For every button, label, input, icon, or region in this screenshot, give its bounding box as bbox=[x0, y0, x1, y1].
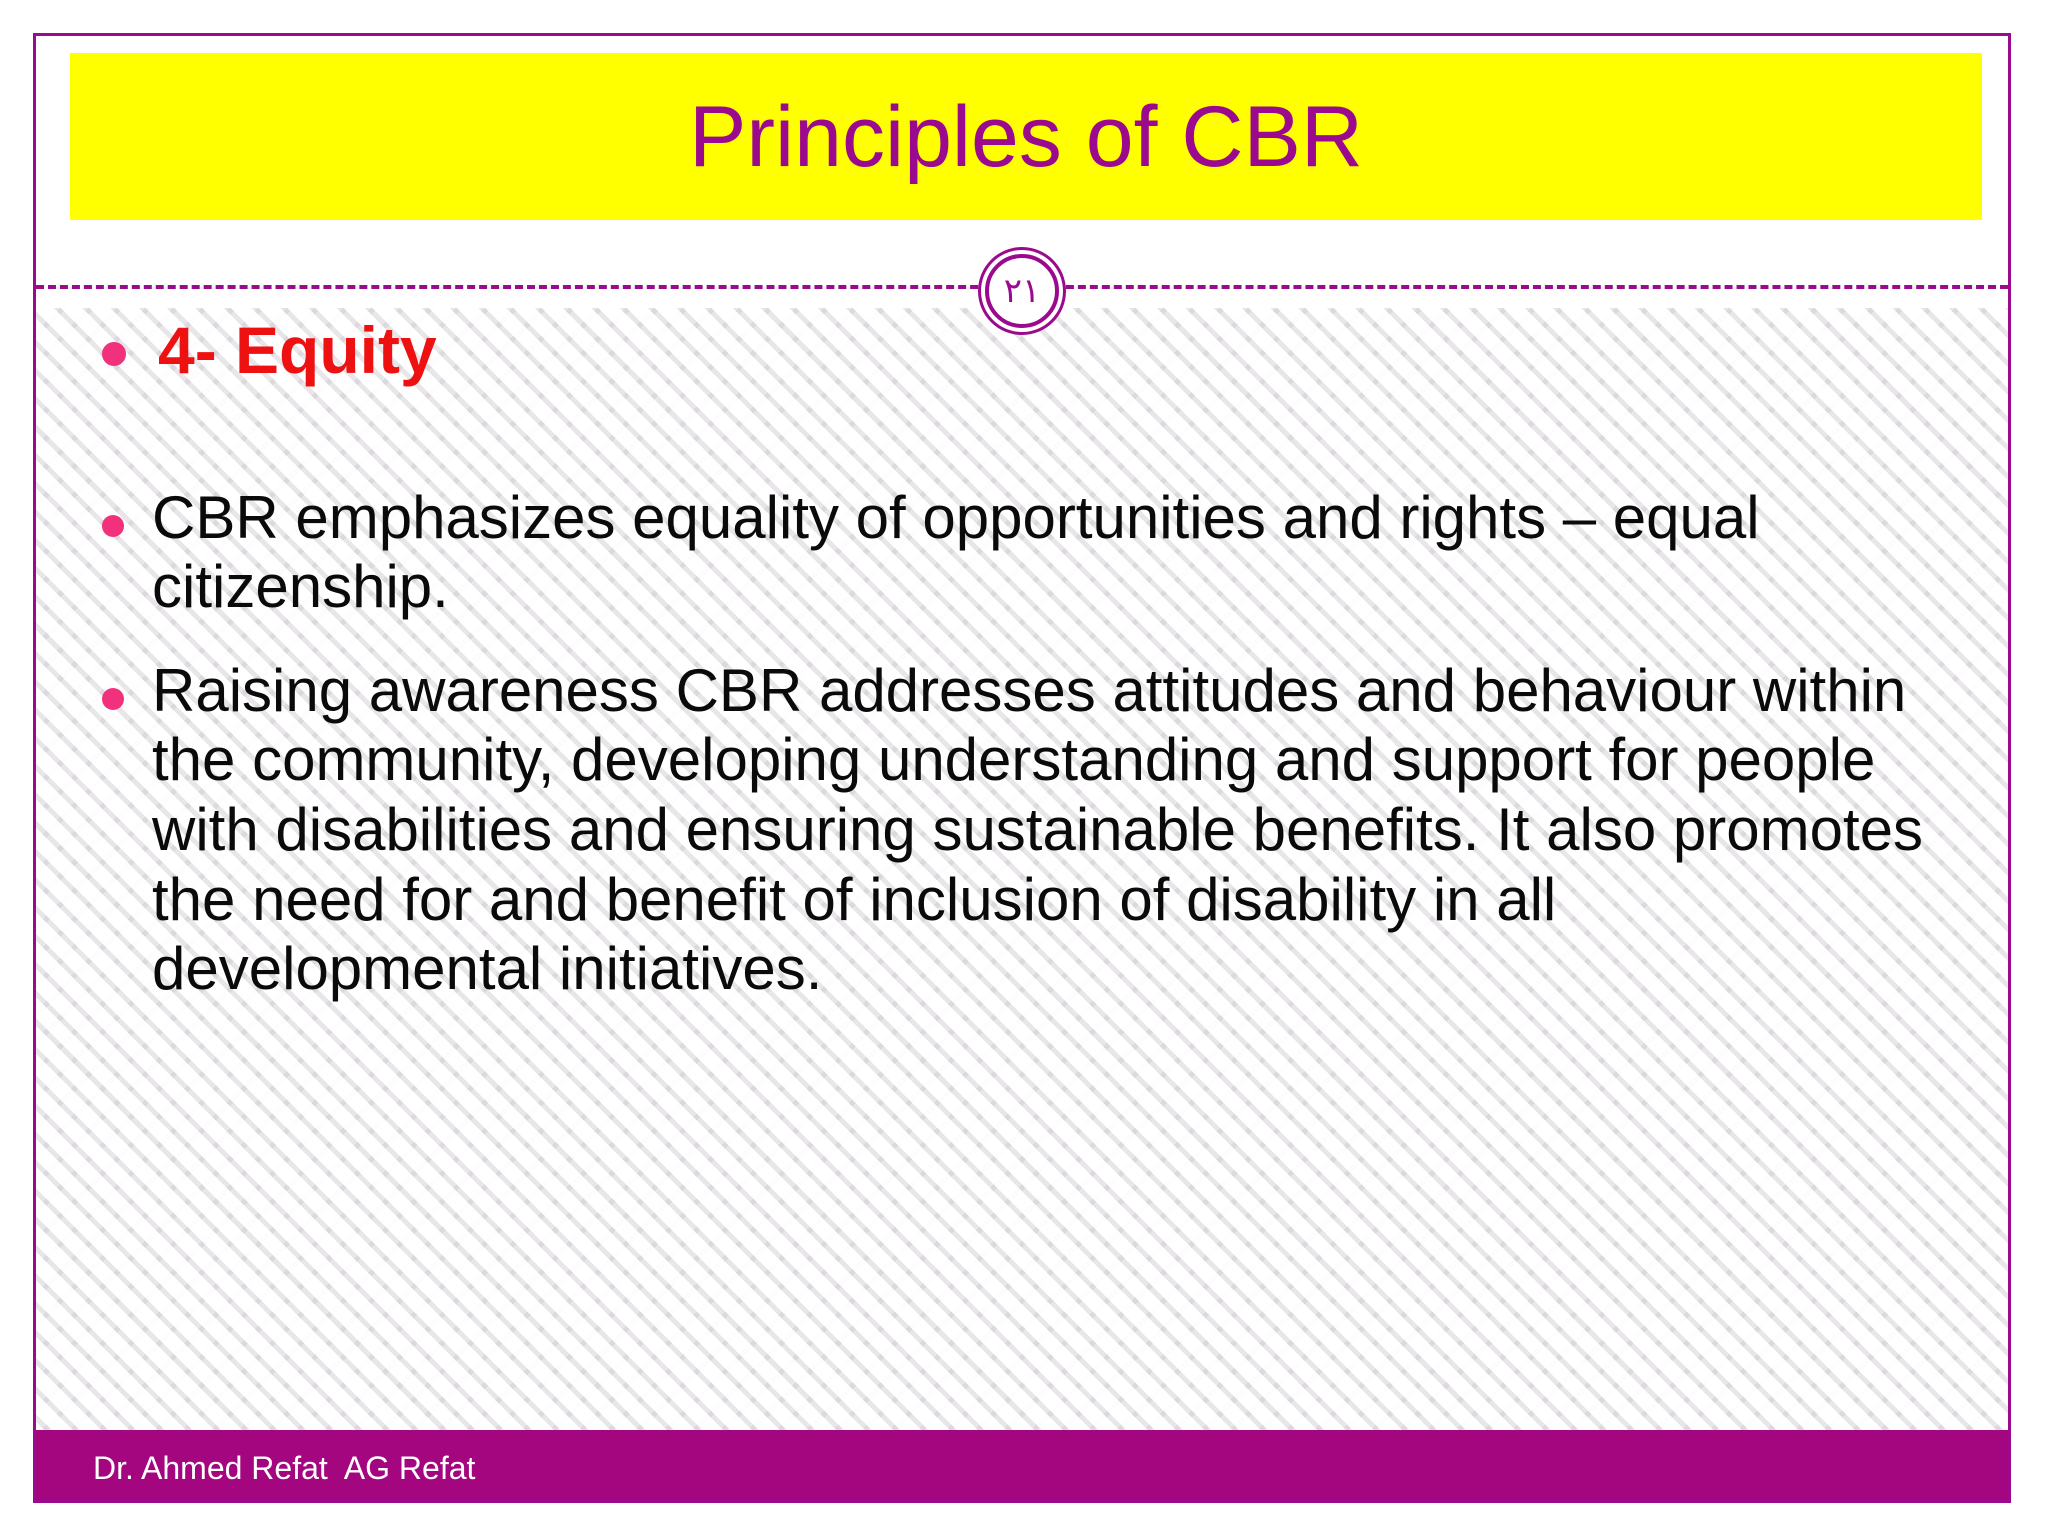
page-title: Principles of CBR bbox=[689, 94, 1363, 180]
slide-frame: Principles of CBR ٢١ 4- Equity CBR empha… bbox=[33, 33, 2011, 1503]
section-heading: 4- Equity bbox=[158, 314, 437, 387]
slide-content-area: 4- Equity CBR emphasizes equality of opp… bbox=[36, 308, 2008, 1430]
bullet-text: Raising awareness CBR addresses attitude… bbox=[152, 656, 1952, 1004]
title-banner: Principles of CBR bbox=[70, 53, 1982, 220]
bullet-marker-icon bbox=[102, 515, 124, 537]
bullet-list: 4- Equity CBR emphasizes equality of opp… bbox=[102, 314, 1962, 1004]
author-label: Dr. Ahmed Refat AG Refat bbox=[93, 1452, 475, 1484]
page-number-label: ٢١ bbox=[1004, 274, 1041, 308]
bullet-text: CBR emphasizes equality of opportunities… bbox=[152, 483, 1942, 622]
list-item: CBR emphasizes equality of opportunities… bbox=[102, 483, 1962, 622]
bullet-marker-icon bbox=[102, 342, 126, 366]
list-item: Raising awareness CBR addresses attitude… bbox=[102, 656, 1962, 1004]
slide-footer: Dr. Ahmed Refat AG Refat bbox=[36, 1430, 2008, 1503]
bullet-marker-icon bbox=[102, 688, 124, 710]
page-number-badge: ٢١ bbox=[985, 254, 1059, 328]
